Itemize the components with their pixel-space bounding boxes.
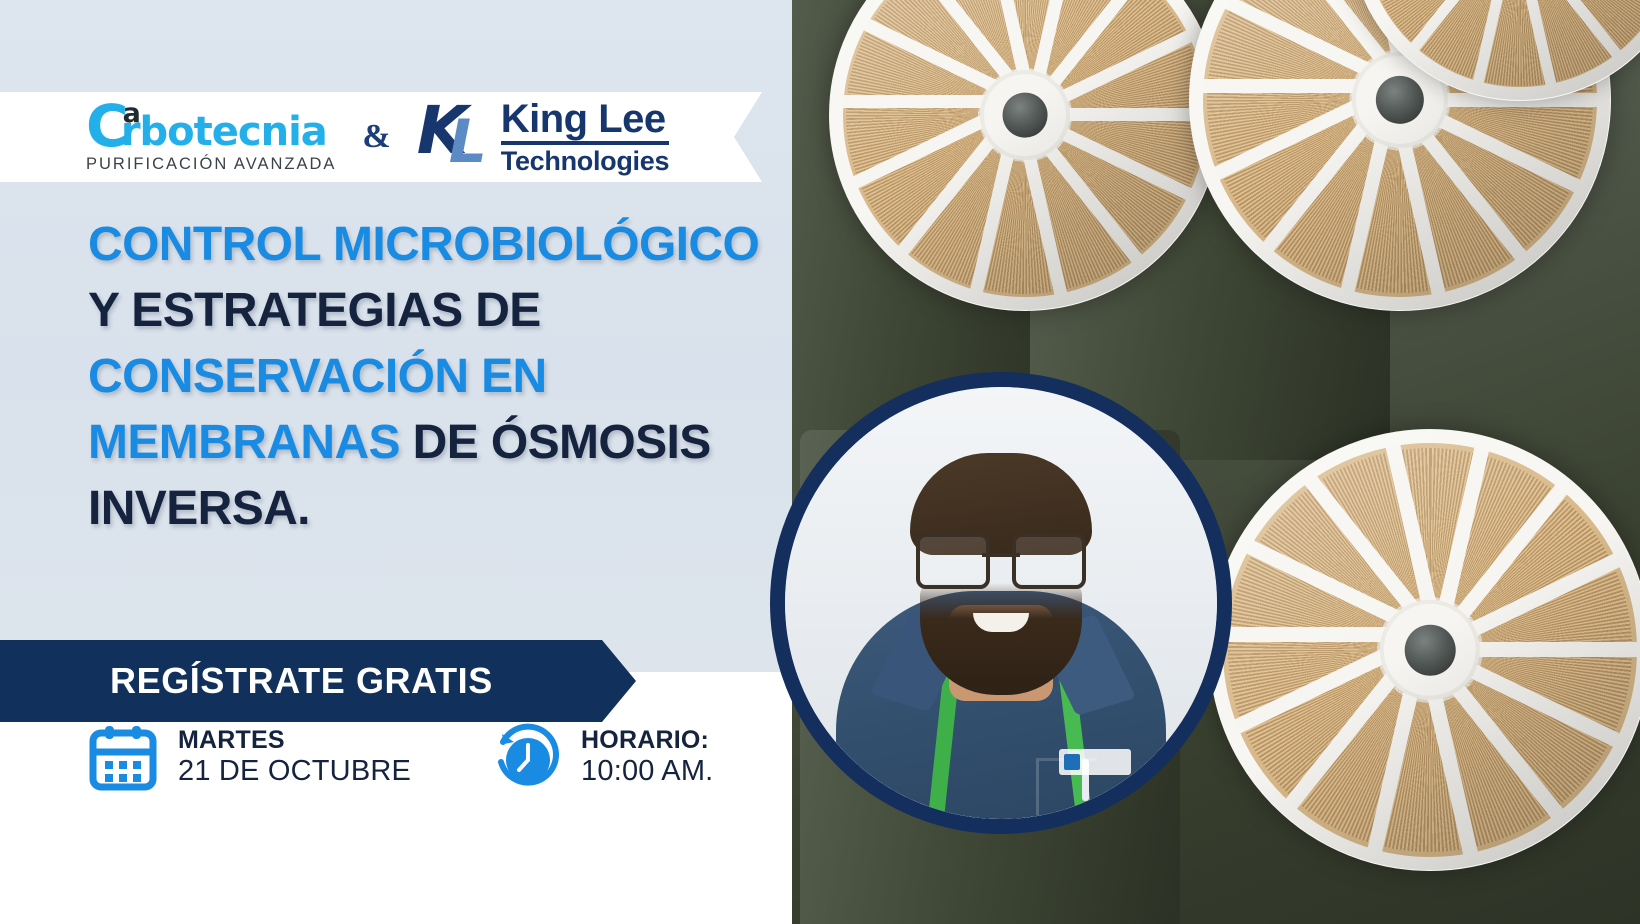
headline: CONTROL MICROBIOLÓGICO Y ESTRATEGIAS DE … [88,212,808,542]
event-time-value: 10:00 AM. [581,755,713,789]
king-lee-kl-monogram: K L [417,100,495,174]
event-time-item: HORARIO: 10:00 AM. [491,722,713,792]
register-cta-label: REGÍSTRATE GRATIS [0,660,493,702]
headline-line-5: INVERSA. [88,476,808,542]
headline-line-4-navy: DE ÓSMOSIS [400,416,711,469]
eyeglasses [916,533,1086,583]
king-lee-subtitle: Technologies [501,148,669,175]
register-cta-ribbon[interactable]: REGÍSTRATE GRATIS [0,640,636,722]
event-info-row: MARTES 21 DE OCTUBRE HORARIO: 10:00 AM. [88,722,713,792]
headline-line-4-blue: MEMBRANAS [88,416,400,469]
headline-line-1: CONTROL MICROBIOLÓGICO [88,212,808,278]
event-date-value: 21 DE OCTUBRE [178,755,411,789]
king-lee-logo: K L King Lee Technologies [417,99,669,175]
carbotecnia-tagline: PURIFICACIÓN AVANZADA [86,156,336,173]
event-date-item: MARTES 21 DE OCTUBRE [88,722,411,792]
ampersand-separator: & [362,118,390,156]
event-time-label: HORARIO: [581,726,713,755]
speaker-portrait [770,372,1232,834]
king-lee-l-letter: L [449,114,487,171]
headline-line-4: MEMBRANAS DE ÓSMOSIS [88,410,808,476]
carbotecnia-wordmark: rbotecnia [121,112,327,152]
webinar-banner: C a rbotecnia PURIFICACIÓN AVANZADA & K … [0,0,1640,924]
logo-band: C a rbotecnia PURIFICACIÓN AVANZADA & K … [0,92,762,182]
calendar-icon [88,722,158,792]
event-date-label: MARTES [178,726,411,755]
ro-membrane-element [1210,430,1640,870]
speaker-photo [785,387,1217,819]
king-lee-name: King Lee [501,99,669,145]
carbotecnia-logo: C a rbotecnia PURIFICACIÓN AVANZADA [86,102,336,172]
headline-line-3: CONSERVACIÓN EN [88,344,808,410]
shirt-king-lee-logo [1059,749,1131,775]
headline-line-2: Y ESTRATEGIAS DE [88,278,808,344]
clock-icon [491,722,561,792]
